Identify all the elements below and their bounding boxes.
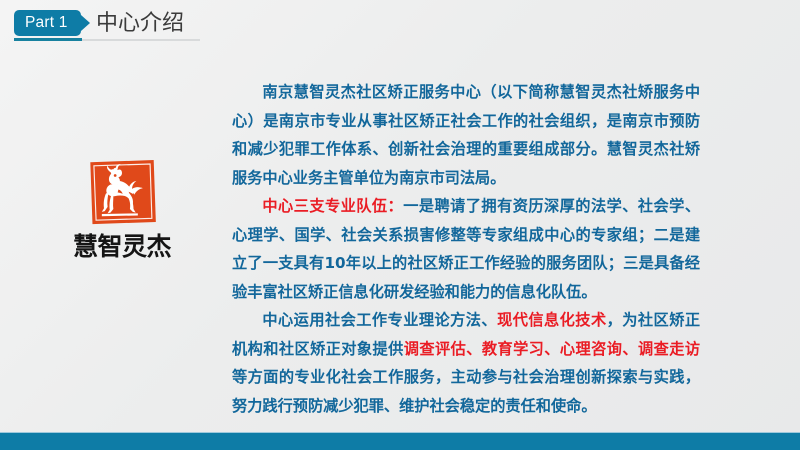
text-run: 南京慧智灵杰社区矫正服务中心（以下简称慧智灵杰社矫服务中心）是南京市专业从事社区… [232, 83, 700, 187]
header-accent-rule [14, 38, 82, 41]
text-run: 等方面的专业化社会工作服务，主动参与社会治理创新探索与实践，努力践行预防减少犯罪… [232, 368, 700, 415]
highlighted-text-run: 调查评估、教育学习、心理咨询、调查走访 [404, 340, 700, 358]
part-number-badge: Part 1 [14, 10, 81, 36]
paragraph: 南京慧智灵杰社区矫正服务中心（以下简称慧智灵杰社矫服务中心）是南京市专业从事社区… [232, 78, 700, 192]
slide-canvas: Part 1 中心介绍 [0, 0, 800, 450]
footer-bar [0, 433, 800, 450]
paragraph: 中心运用社会工作专业理论方法、现代信息化技术，为社区矫正机构和社区矫正对象提供调… [232, 306, 700, 420]
xiezhi-seal-logo-icon [86, 155, 158, 227]
slide-header: Part 1 中心介绍 [0, 0, 800, 46]
page-title: 中心介绍 [96, 8, 184, 38]
paragraph: 中心三支专业队伍：一是聘请了拥有资历深厚的法学、社会学、心理学、国学、社会关系损… [232, 192, 700, 306]
organization-logo-wordmark: 慧智灵杰 [62, 234, 182, 259]
highlighted-text-run: 中心三支专业队伍： [262, 197, 403, 215]
text-run: 中心运用社会工作专业理论方法、 [262, 311, 497, 329]
organization-logo: 慧智灵杰 [62, 155, 182, 259]
body-copy: 南京慧智灵杰社区矫正服务中心（以下简称慧智灵杰社矫服务中心）是南京市专业从事社区… [232, 78, 700, 420]
part-number-badge-label: Part 1 [25, 15, 68, 31]
highlighted-text-run: 现代信息化技术 [497, 311, 607, 329]
header-divider-rule [82, 39, 200, 41]
badge-arrow-icon [81, 15, 90, 31]
